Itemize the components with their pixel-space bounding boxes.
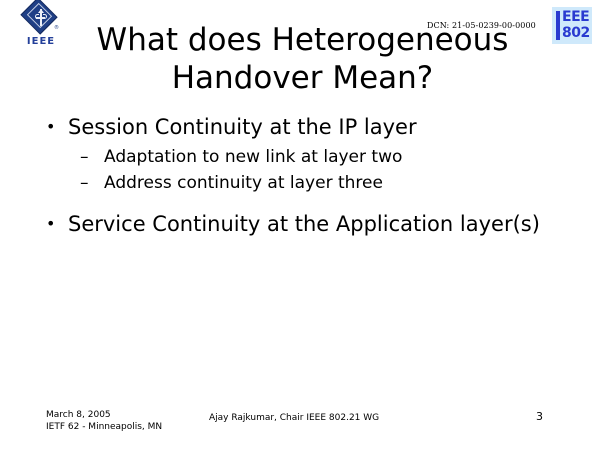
ieee-diamond-icon (21, 2, 61, 38)
ieee-emblem-bar (36, 17, 45, 19)
page-number: 3 (536, 410, 543, 423)
ieee-logo: ® IEEE (14, 2, 68, 50)
sub-bullet-item: – Address continuity at layer three (42, 170, 552, 196)
registered-trademark-icon: ® (54, 26, 59, 31)
bullet-text: Service Continuity at the Application la… (68, 212, 540, 236)
sub-bullet-marker-icon: – (80, 144, 89, 170)
slide-title-line-2: Handover Mean? (75, 59, 530, 97)
footer-date: March 8, 2005 (46, 409, 162, 421)
sub-bullet-text: Address continuity at layer three (104, 173, 383, 193)
slide-title-line-1: What does Heterogeneous (75, 21, 530, 59)
ieee-802-logo-line1: EEE (562, 9, 590, 25)
footer-venue: IETF 62 - Minneapolis, MN (46, 421, 162, 433)
bullet-marker-icon: • (46, 113, 55, 141)
slide-body: • Session Continuity at the IP layer – A… (42, 113, 552, 240)
sub-bullet-text: Adaptation to new link at layer two (104, 147, 402, 167)
ieee-802-logo-line2: 802 (562, 25, 590, 41)
ieee-802-logo-text: EEE 802 (562, 9, 590, 41)
presentation-slide: ® IEEE DCN: 21-05-0239-00-0000 EEE 802 W… (0, 0, 600, 450)
ieee-emblem-icon (36, 9, 45, 26)
slide-title: What does Heterogeneous Handover Mean? (75, 21, 530, 97)
sub-bullet-item: – Adaptation to new link at layer two (42, 144, 552, 170)
bullet-text: Session Continuity at the IP layer (68, 115, 417, 139)
sub-bullet-marker-icon: – (80, 170, 89, 196)
bullet-item: • Session Continuity at the IP layer (42, 113, 552, 141)
bullet-marker-icon: • (46, 210, 55, 238)
bullet-item: • Service Continuity at the Application … (42, 210, 552, 238)
footer-left: March 8, 2005 IETF 62 - Minneapolis, MN (46, 409, 162, 433)
sub-bullet-list: – Adaptation to new link at layer two – … (42, 144, 552, 196)
ieee-emblem-arrow (38, 9, 44, 13)
ieee-802-logo: EEE 802 (552, 7, 592, 44)
ieee-wordmark: IEEE (14, 37, 68, 47)
ieee-802-logo-bar (556, 11, 560, 40)
spacer (42, 202, 552, 210)
footer-author: Ajay Rajkumar, Chair IEEE 802.21 WG (209, 412, 379, 424)
